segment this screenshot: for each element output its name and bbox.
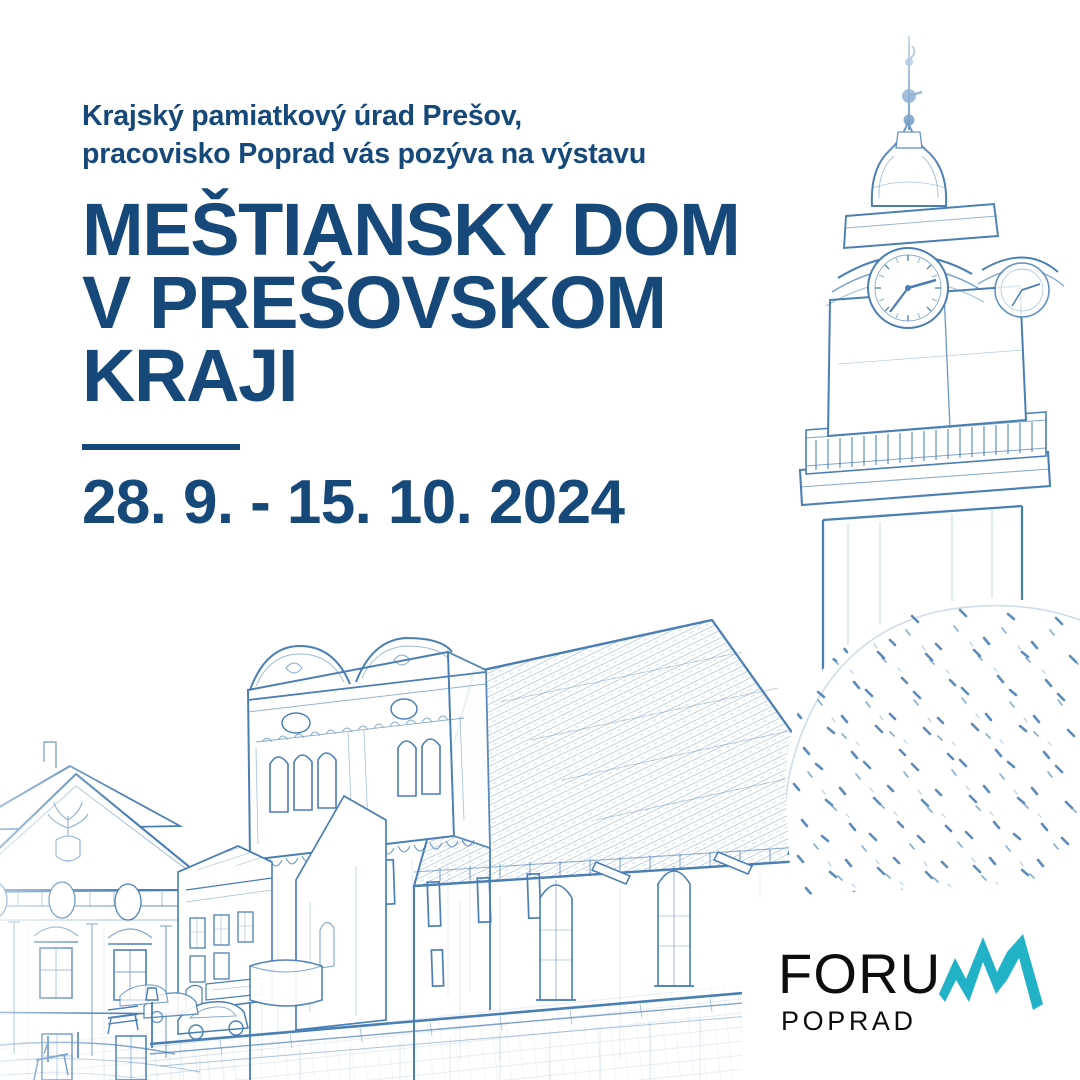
title-line-2: V PREŠOVSKOM [82, 267, 782, 340]
organizer-line: Krajský pamiatkový úrad Prešov, pracovis… [82, 98, 782, 174]
finial-ornaments [902, 46, 922, 126]
bench [108, 1006, 138, 1034]
street-lamp [146, 988, 158, 1048]
outdoor-seating [34, 1042, 68, 1080]
paved-square [0, 1030, 240, 1080]
forum-poprad-logo[interactable]: FORU POPRAD [778, 942, 1068, 1037]
logo-wordmark: FORU [778, 942, 1068, 1000]
mountain-m-icon [939, 932, 1043, 1010]
tree [780, 580, 1080, 910]
page-title: MEŠTIANSKY DOM V PREŠOVSKOM KRAJI [82, 174, 782, 413]
parked-cars [120, 985, 248, 1039]
title-line-1: MEŠTIANSKY DOM [82, 194, 782, 267]
exhibition-date-range: 28. 9. - 15. 10. 2024 [82, 450, 782, 534]
title-line-3: KRAJI [82, 340, 782, 413]
gothic-window [536, 880, 576, 1000]
window [34, 942, 78, 998]
classical-townhouse [0, 742, 200, 1080]
logo-forum-text: FORU [778, 947, 941, 1000]
poster-text-block: Krajský pamiatkový úrad Prešov, pracovis… [82, 98, 782, 534]
poster-canvas: Krajský pamiatkový úrad Prešov, pracovis… [0, 0, 1080, 1080]
renaissance-attic [248, 638, 490, 1080]
square-furniture [34, 960, 322, 1080]
row-houses [178, 846, 272, 1016]
secondary-clock-face [995, 263, 1049, 317]
gothic-window [654, 866, 694, 986]
window [108, 944, 152, 1000]
logo-panel: FORU POPRAD [742, 880, 1080, 1080]
clock-face [868, 248, 948, 328]
logo-poprad-text: POPRAD [781, 1006, 1068, 1037]
stone-basin [250, 960, 322, 1006]
